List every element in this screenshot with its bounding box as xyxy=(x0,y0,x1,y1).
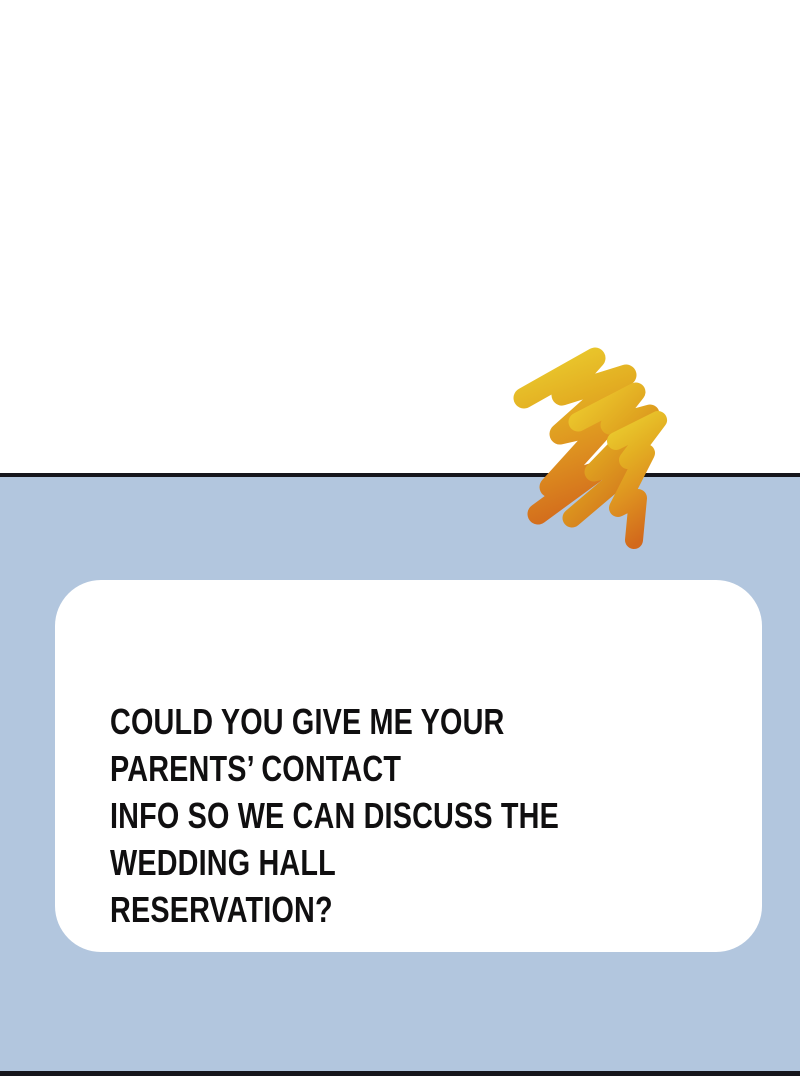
comic-page: COULD YOU GIVE ME YOUR PARENTS’ CONTACT … xyxy=(0,0,800,1080)
speech-bubble: COULD YOU GIVE ME YOUR PARENTS’ CONTACT … xyxy=(55,580,762,952)
panel-bottom-border xyxy=(0,1071,800,1076)
panel-gutter-top xyxy=(0,0,800,473)
speech-bubble-text: COULD YOU GIVE ME YOUR PARENTS’ CONTACT … xyxy=(110,698,614,933)
